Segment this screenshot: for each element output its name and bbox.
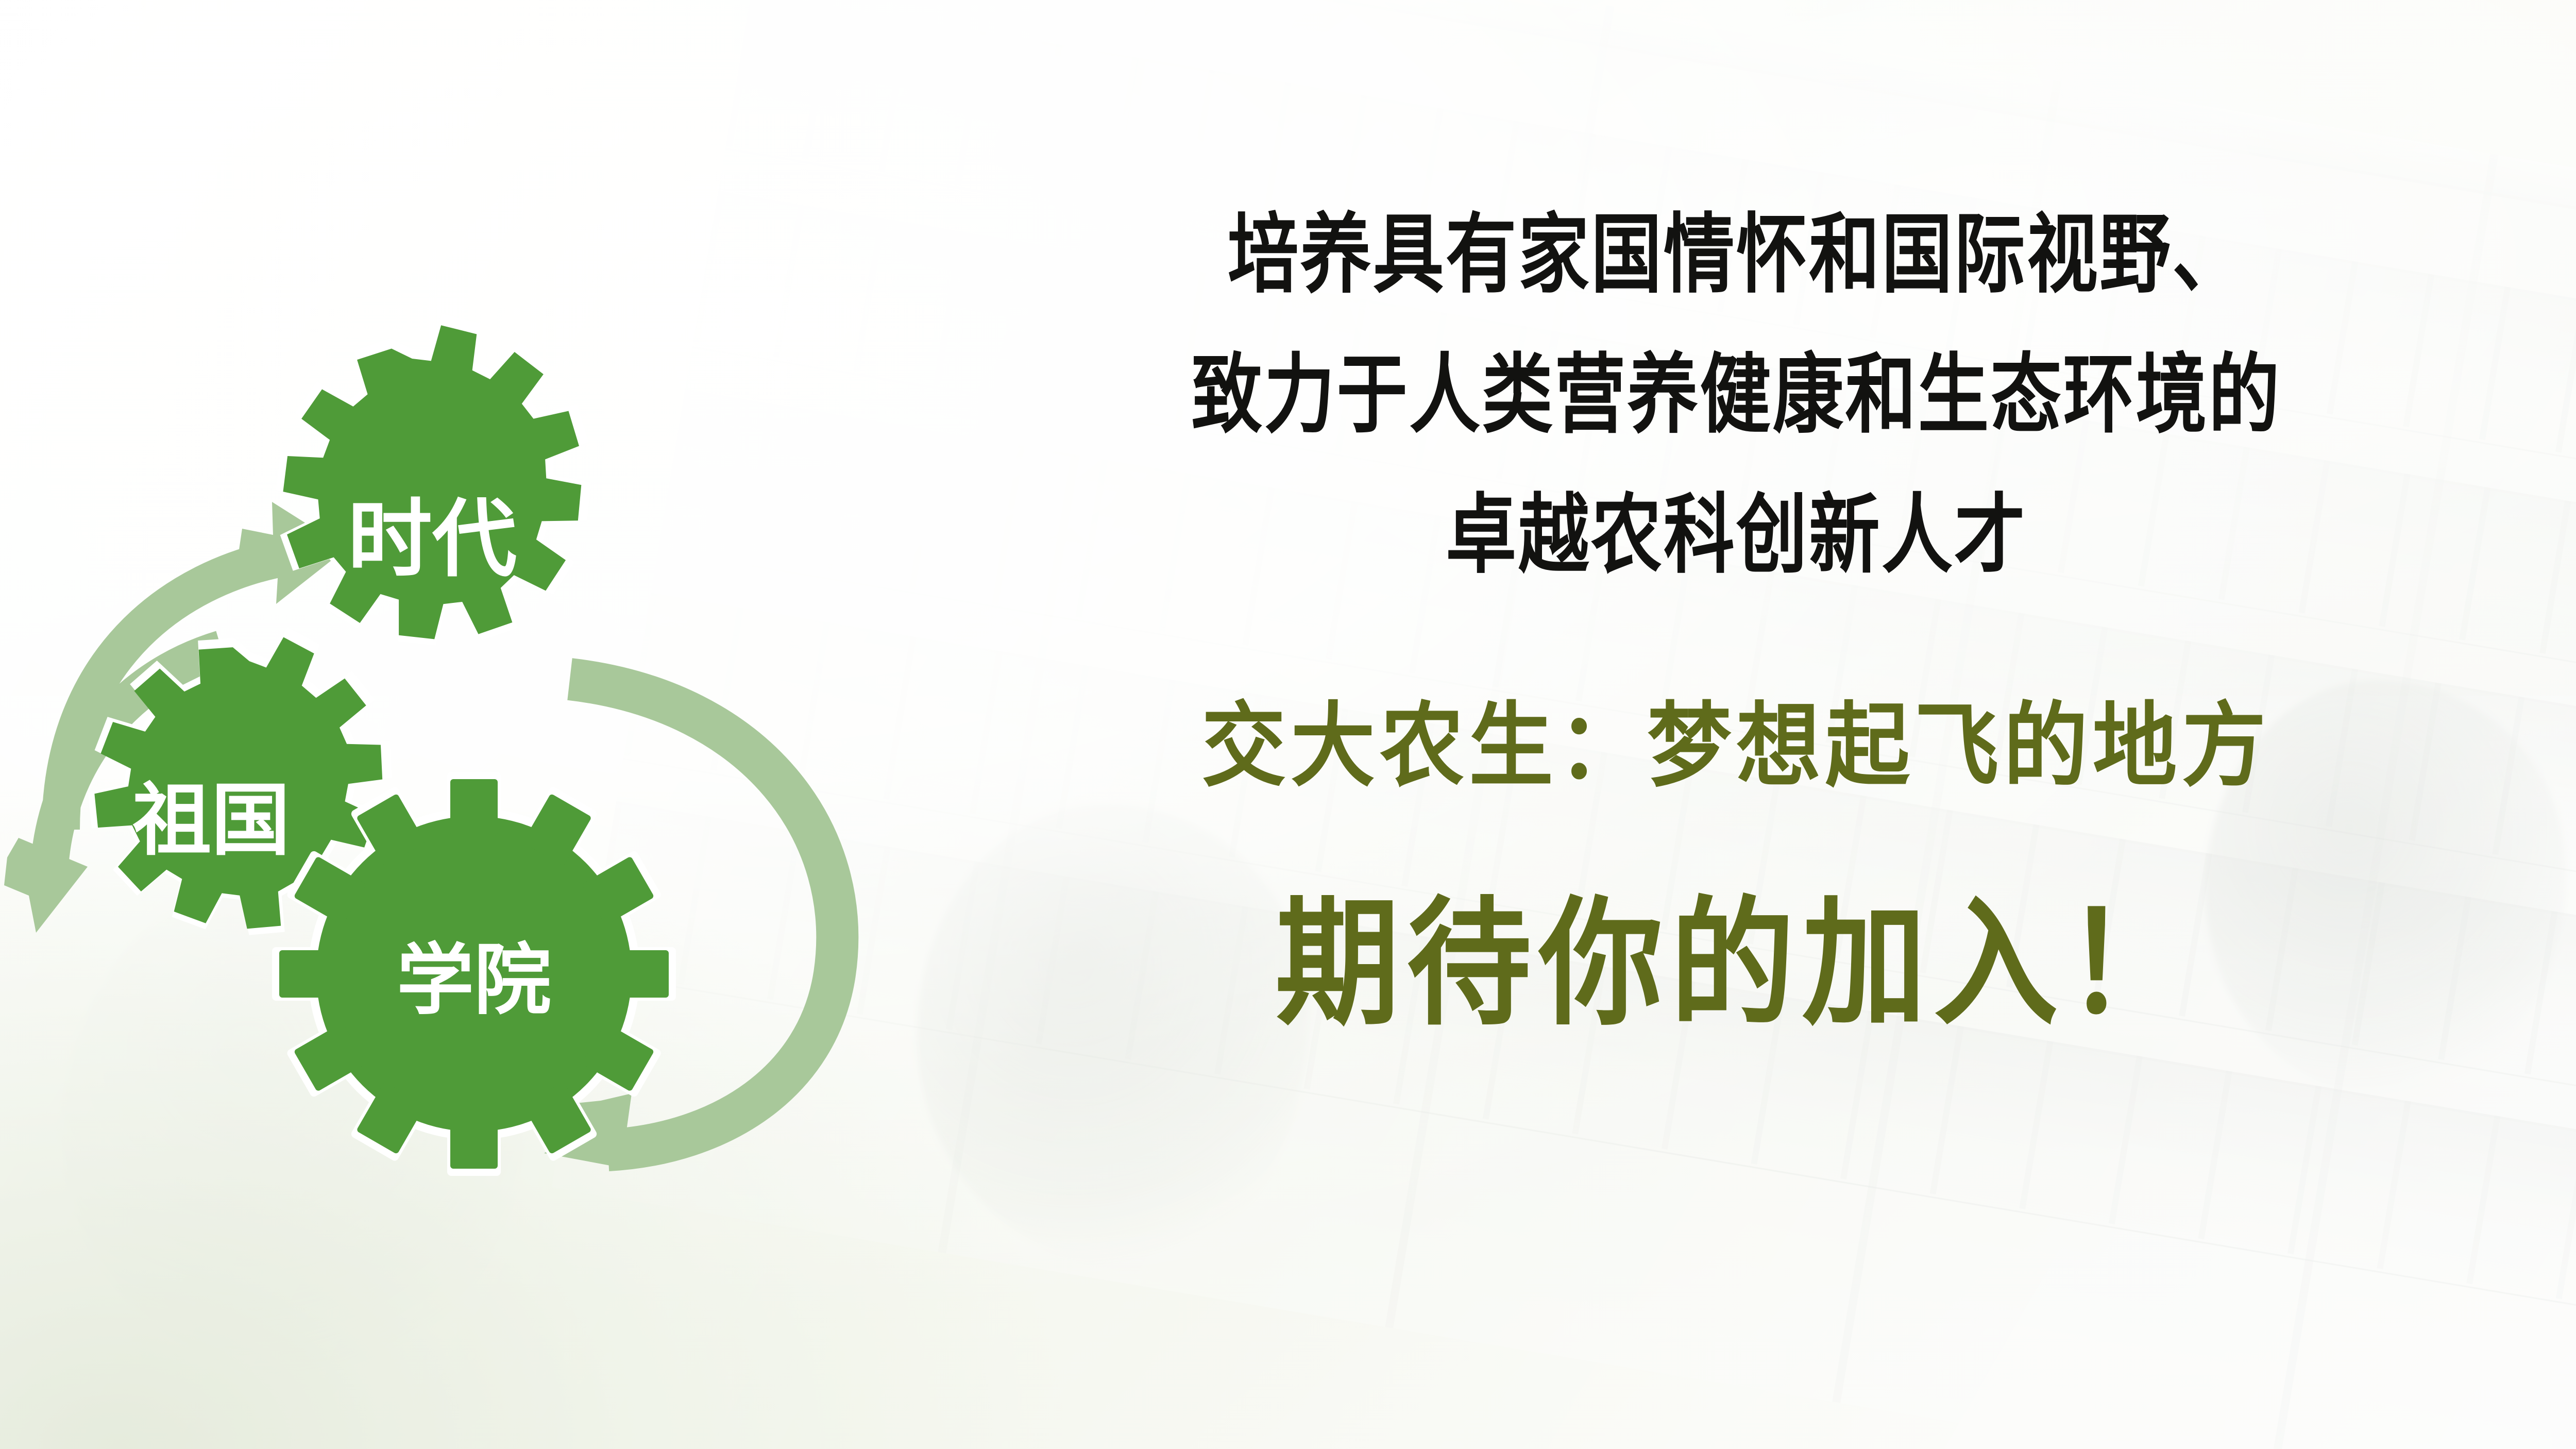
mission-line-1: 培养具有家国情怀和国际视野、 — [1183, 186, 2290, 326]
mission-line-3: 卓越农科创新人才 — [1183, 466, 2290, 606]
poster-slide: 时代 祖国 — [0, 0, 2576, 1449]
mission-line-2: 致力于人类营养健康和生态环境的 — [1183, 326, 2290, 466]
gear-cycle-diagram: 时代 祖国 — [0, 289, 907, 1216]
gear-label-college: 学院 — [397, 938, 551, 1024]
headline-slogan: 交大农生：梦想起飞的地方 — [1115, 672, 2357, 804]
gear-label-era: 时代 — [348, 493, 517, 587]
mission-statement: 培养具有家国情怀和国际视野、 致力于人类营养健康和生态环境的 卓越农科创新人才 — [1183, 186, 2290, 606]
gear-era: 时代 — [276, 314, 591, 646]
gear-label-country: 祖国 — [132, 778, 290, 865]
copy-block: 培养具有家国情怀和国际视野、 致力于人类营养健康和生态环境的 卓越农科创新人才 … — [1061, 186, 2411, 1052]
call-to-action: 期待你的加入！ — [1129, 852, 2344, 1052]
